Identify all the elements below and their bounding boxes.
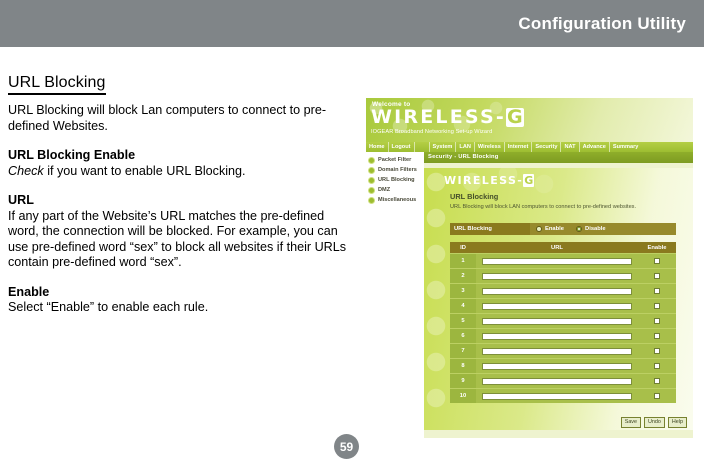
row-url-cell [476,374,638,388]
sidebar-item-label: DMZ [378,187,390,193]
row-enable-cell [638,359,676,373]
panel-section-title: URL Blocking [450,192,498,201]
router-main-area: Security - URL Blocking WIRELESS-G URL B… [424,152,693,438]
save-button[interactable]: Save [621,417,641,428]
url-input[interactable] [482,348,631,355]
form-action-buttons: SaveUndoHelp [621,417,687,428]
documentation-column: URL Blocking URL Blocking will block Lan… [8,74,348,316]
enable-checkbox[interactable] [654,303,660,309]
row-url-cell [476,389,638,403]
row-url-cell [476,314,638,328]
radio-disable-icon[interactable] [576,226,582,232]
url-blocking-enable-row: URL Blocking Enable Disable [450,223,676,235]
url-input[interactable] [482,378,631,385]
sidebar-item-dmz[interactable]: DMZ [366,185,424,195]
row-id: 7 [450,344,476,358]
table-row: 3 [450,283,676,298]
panel-section-description: URL Blocking will block LAN computers to… [450,204,665,212]
table-row: 8 [450,358,676,373]
nav-item-advance[interactable]: Advance [580,142,610,152]
doc-subheading-url: URL [8,193,348,209]
table-row: 2 [450,268,676,283]
nav-item-internet[interactable]: Internet [505,142,533,152]
url-input[interactable] [482,363,631,370]
url-input[interactable] [482,288,631,295]
radio-disable-label: Disable [585,226,606,232]
doc-subheading-enable: Enable [8,285,348,301]
router-nav-bar: HomeLogoutSystemLANWirelessInternetSecur… [366,142,693,152]
url-input[interactable] [482,333,631,340]
url-input[interactable] [482,258,631,265]
row-enable-cell [638,269,676,283]
panel-wordmark-prefix: WIRELESS- [444,174,523,187]
url-input[interactable] [482,273,631,280]
row-id: 4 [450,299,476,313]
row-enable-cell [638,374,676,388]
table-row: 9 [450,373,676,388]
banner-subtitle: IOGEAR Broadband Networking Set-up Wizar… [371,129,492,135]
sidebar-item-domain-filters[interactable]: Domain Filters [366,165,424,175]
row-url-cell [476,284,638,298]
row-url-cell [476,344,638,358]
url-input[interactable] [482,393,631,400]
page-title: Configuration Utility [518,14,686,34]
doc-emphasis-check: Check [8,164,44,178]
url-input[interactable] [482,318,631,325]
panel-wordmark: WIRELESS-G [444,174,534,187]
banner-wordmark-prefix: WIRELESS- [371,106,506,128]
enable-checkbox[interactable] [654,393,660,399]
doc-paragraph-enable: Select “Enable” to enable each rule. [8,300,348,316]
bullet-icon [368,177,375,184]
row-id: 10 [450,389,476,403]
router-content-titlebar: Security - URL Blocking [424,152,693,163]
sidebar-item-label: Packet Filter [378,157,411,163]
sidebar-item-miscellaneous[interactable]: Miscellaneous [366,195,424,205]
enable-checkbox[interactable] [654,378,660,384]
table-row: 1 [450,253,676,268]
table-row: 7 [450,343,676,358]
table-header-row: ID URL Enable [450,242,676,253]
sidebar-item-label: URL Blocking [378,177,415,183]
doc-section1-body: if you want to enable URL Blocking. [44,164,246,178]
nav-item-nat[interactable]: NAT [561,142,579,152]
enable-checkbox[interactable] [654,348,660,354]
nav-spacer [415,142,430,152]
row-id: 2 [450,269,476,283]
router-sidebar: Packet FilterDomain FiltersURL BlockingD… [366,152,424,438]
radio-enable-icon[interactable] [536,226,542,232]
bullet-icon [368,197,375,204]
bullet-icon [368,157,375,164]
table-row: 6 [450,328,676,343]
nav-item-home[interactable]: Home [366,142,389,152]
bullet-icon [368,187,375,194]
row-id: 6 [450,329,476,343]
router-banner: Welcome to WIRELESS-G IOGEAR Broadband N… [366,98,693,142]
row-url-cell [476,269,638,283]
embedded-router-screenshot: Welcome to WIRELESS-G IOGEAR Broadband N… [366,98,693,438]
nav-item-logout[interactable]: Logout [389,142,415,152]
row-enable-cell [638,254,676,268]
sidebar-item-label: Domain Filters [378,167,417,173]
bullet-icon [368,167,375,174]
radio-enable-label: Enable [545,226,564,232]
table-row: 4 [450,298,676,313]
doc-heading: URL Blocking [8,74,106,95]
undo-button[interactable]: Undo [644,417,665,428]
row-id: 9 [450,374,476,388]
doc-intro-paragraph: URL Blocking will block Lan computers to… [8,103,348,134]
nav-item-lan[interactable]: LAN [456,142,475,152]
row-enable-cell [638,299,676,313]
enable-checkbox[interactable] [654,318,660,324]
page-header-bar: Configuration Utility [0,0,704,47]
url-blocking-table: ID URL Enable 12345678910 [450,242,676,403]
nav-item-security[interactable]: Security [532,142,561,152]
radio-enable[interactable]: Enable [536,226,564,232]
row-url-cell [476,359,638,373]
router-content-title: Security - URL Blocking [428,154,499,160]
url-blocking-label: URL Blocking [450,223,530,235]
row-enable-cell [638,344,676,358]
column-header-enable: Enable [638,242,676,253]
page-number-badge: 59 [334,434,359,459]
column-header-url: URL [476,242,638,253]
row-enable-cell [638,314,676,328]
nav-item-summary[interactable]: Summary [610,142,642,152]
sidebar-item-url-blocking[interactable]: URL Blocking [366,175,424,185]
column-header-id: ID [450,242,476,253]
panel-wordmark-g: G [523,174,534,187]
table-row: 10 [450,388,676,403]
enable-checkbox[interactable] [654,273,660,279]
banner-wordmark-g: G [506,108,524,127]
enable-checkbox[interactable] [654,288,660,294]
enable-checkbox[interactable] [654,363,660,369]
doc-paragraph-url: If any part of the Website’s URL matches… [8,209,348,271]
nav-item-wireless[interactable]: Wireless [475,142,505,152]
row-id: 5 [450,314,476,328]
sidebar-item-label: Miscellaneous [378,197,416,203]
enable-checkbox[interactable] [654,258,660,264]
help-button[interactable]: Help [668,417,687,428]
row-url-cell [476,299,638,313]
banner-wordmark: WIRELESS-G [371,108,524,127]
table-body: 12345678910 [450,253,676,403]
row-enable-cell [638,329,676,343]
enable-checkbox[interactable] [654,333,660,339]
row-enable-cell [638,284,676,298]
row-id: 8 [450,359,476,373]
row-id: 1 [450,254,476,268]
table-row: 5 [450,313,676,328]
row-url-cell [476,329,638,343]
url-input[interactable] [482,303,631,310]
sidebar-item-packet-filter[interactable]: Packet Filter [366,155,424,165]
row-url-cell [476,254,638,268]
row-id: 3 [450,284,476,298]
row-enable-cell [638,389,676,403]
doc-paragraph-url-blocking-enable: Check if you want to enable URL Blocking… [8,164,348,180]
radio-disable[interactable]: Disable [576,226,606,232]
router-content-panel: WIRELESS-G URL Blocking URL Blocking wil… [424,168,693,430]
url-blocking-radio-group: Enable Disable [530,223,676,235]
nav-item-system[interactable]: System [430,142,457,152]
doc-subheading-url-blocking-enable: URL Blocking Enable [8,148,348,164]
